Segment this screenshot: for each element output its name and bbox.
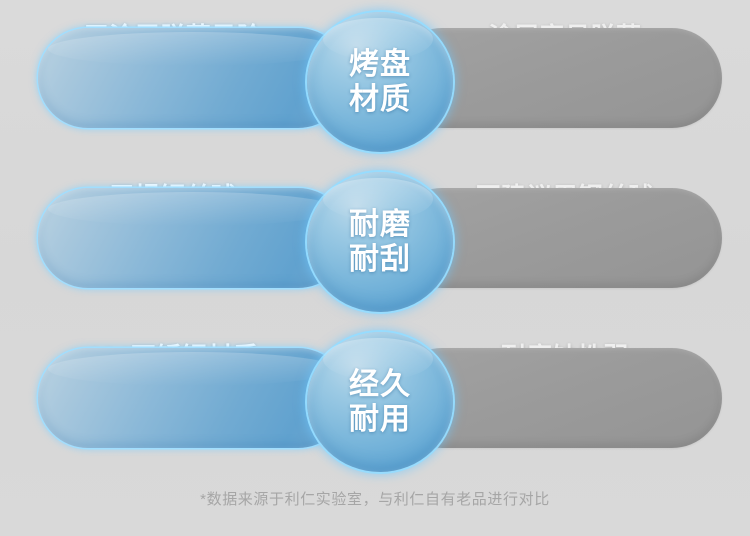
badge-line-1: 耐磨	[349, 207, 411, 242]
comparison-row: 无涂层脱落风险 使用安心又健康 涂层容易脱落 易脱落易刮花 烤盘 材质	[0, 0, 750, 160]
pro-pill	[38, 348, 348, 448]
pro-pill	[38, 188, 348, 288]
pro-pill	[38, 28, 348, 128]
badge-line-2: 耐用	[349, 402, 411, 437]
badge-line-1: 经久	[349, 367, 411, 402]
badge-line-1: 烤盘	[349, 47, 411, 82]
feature-badge: 烤盘 材质	[307, 12, 453, 152]
comparison-row: 304不锈钢材质 耐腐蚀性更强 耐腐蚀性弱 稳定性弱 经久 耐用	[0, 320, 750, 480]
feature-badge: 耐磨 耐刮	[307, 172, 453, 312]
comparison-row: 无惧钢丝球 不挑锅铲 不建议用钢丝球 不耐磨不耐刮 耐磨 耐刮	[0, 160, 750, 320]
badge-line-2: 材质	[349, 82, 411, 117]
feature-badge: 经久 耐用	[307, 332, 453, 472]
comparison-board: 无涂层脱落风险 使用安心又健康 涂层容易脱落 易脱落易刮花 烤盘 材质 无惧钢丝…	[0, 0, 750, 536]
footnote-disclaimer: *数据来源于利仁实验室，与利仁自有老品进行对比	[0, 488, 750, 509]
badge-line-2: 耐刮	[349, 242, 411, 277]
